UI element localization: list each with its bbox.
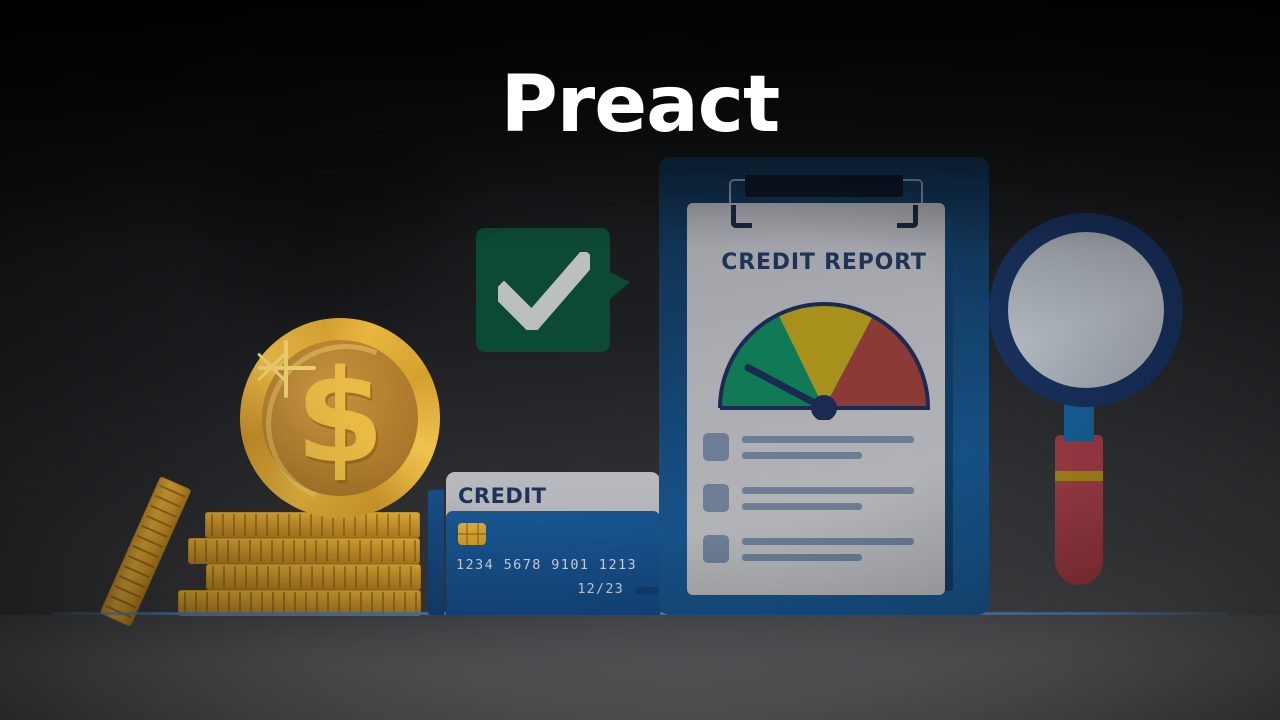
coin-ridge — [344, 566, 346, 588]
ruler-tick — [128, 555, 154, 568]
coin-ridge — [393, 592, 395, 614]
magnifying-glass — [985, 213, 1195, 613]
dollar-sign-icon: $ — [240, 318, 440, 518]
row-line-secondary — [742, 554, 862, 561]
report-row — [703, 535, 914, 563]
ruler-tick — [110, 595, 136, 608]
coin-ridge — [392, 540, 394, 562]
coin-ridge — [338, 592, 340, 614]
ruler-tick — [119, 575, 145, 588]
coin-ridge — [228, 592, 230, 614]
coin-ridge — [337, 540, 339, 562]
check-badge — [476, 228, 610, 352]
paper-bracket-right — [897, 205, 918, 228]
coin-ridge — [194, 540, 196, 562]
coin-ridge — [195, 592, 197, 614]
coin-ridge — [282, 540, 284, 562]
report-row — [703, 433, 914, 461]
magnifier-band — [1055, 471, 1103, 481]
gauge-hub — [811, 395, 837, 420]
ruler-tick — [115, 585, 141, 598]
hero-banner: $ CREDIT 1234 5678 9101 1213 12/23 — [0, 0, 1280, 720]
coin-ridge — [360, 592, 362, 614]
ruler-tick — [124, 565, 150, 578]
coin-ridge — [315, 540, 317, 562]
coin-ridge — [382, 592, 384, 614]
coin-ridge — [283, 592, 285, 614]
coin-stack-row — [206, 564, 421, 590]
row-line-primary — [742, 538, 914, 545]
coin-ridge — [239, 592, 241, 614]
coin-ridge — [349, 592, 351, 614]
magnifier-handle — [1055, 435, 1103, 585]
row-line-primary — [742, 487, 914, 494]
coin-ridge — [261, 592, 263, 614]
card-number: 1234 5678 9101 1213 — [456, 557, 650, 573]
scene-reflection: $ CREDIT 1234 5678 9101 1213 12/23 — [0, 615, 1280, 720]
card-expiry: 12/23 — [456, 581, 624, 597]
coin-ridge — [300, 566, 302, 588]
coin-ridge — [348, 540, 350, 562]
ruler-tick — [150, 505, 176, 518]
row-lines — [742, 433, 914, 459]
coin-ridge — [260, 540, 262, 562]
ruler-tick — [141, 525, 167, 538]
row-line-secondary — [742, 503, 862, 510]
coin-ridge — [216, 540, 218, 562]
coin-ridge — [366, 566, 368, 588]
checkmark-icon — [498, 252, 590, 330]
coin-ridge — [415, 592, 417, 614]
coin-ridge — [250, 592, 252, 614]
gold-coin: $ — [240, 318, 440, 518]
ruler-tick — [133, 545, 159, 558]
coin-ridge — [370, 540, 372, 562]
coin-ridge — [256, 566, 258, 588]
paper-bracket-left — [731, 205, 752, 228]
row-icon-placeholder — [703, 535, 729, 563]
coin-ridge — [404, 592, 406, 614]
coin-ridge — [223, 566, 225, 588]
coin-ridge — [184, 592, 186, 614]
coin-ridge — [205, 540, 207, 562]
coin-ridge — [245, 566, 247, 588]
report-title: CREDIT REPORT — [659, 250, 989, 275]
coin-ridge — [249, 540, 251, 562]
row-icon-placeholder — [703, 484, 729, 512]
coin-ridge — [359, 540, 361, 562]
coin-ridge — [322, 566, 324, 588]
credit-card-label: CREDIT — [458, 484, 547, 508]
coin-ridge — [311, 566, 313, 588]
coin-ridge — [414, 540, 416, 562]
coin-ridge — [403, 540, 405, 562]
coin-ridge — [212, 566, 214, 588]
coin-ridge — [211, 514, 213, 536]
clipboard-clamp — [745, 175, 903, 197]
coin-ridge — [294, 592, 296, 614]
coin-ridge — [305, 592, 307, 614]
magnifier-lens — [989, 213, 1183, 407]
card-front: 1234 5678 9101 1213 12/23 — [446, 511, 660, 615]
coin-ridge — [316, 592, 318, 614]
coin-ridge — [267, 566, 269, 588]
ruler-tick — [155, 495, 181, 508]
coin-ridge — [206, 592, 208, 614]
card-left-edge — [428, 490, 444, 615]
coin-ridge — [222, 514, 224, 536]
coin-ridge — [227, 540, 229, 562]
coin-ridge — [371, 592, 373, 614]
coin-ridge — [238, 540, 240, 562]
row-lines — [742, 484, 914, 510]
coin-ridge — [327, 592, 329, 614]
row-line-primary — [742, 436, 914, 443]
credit-score-gauge — [708, 296, 940, 420]
row-icon-placeholder — [703, 433, 729, 461]
coin-ridge — [233, 514, 235, 536]
credit-report-clipboard: CREDIT REPORT — [659, 157, 989, 615]
coin-ridge — [304, 540, 306, 562]
coin-ridge — [272, 592, 274, 614]
card-chip-icon — [458, 523, 486, 545]
ruler-tick — [146, 515, 172, 528]
coin-ridge — [333, 566, 335, 588]
ruler-tick — [159, 485, 185, 498]
coin-ridge — [217, 592, 219, 614]
coin-ridge — [326, 540, 328, 562]
coin-ridge — [234, 566, 236, 588]
coin-ridge — [289, 566, 291, 588]
coin-stack-row — [188, 538, 420, 564]
coin-ridge — [388, 566, 390, 588]
coin-ridge — [377, 566, 379, 588]
coin-ridge — [293, 540, 295, 562]
row-lines — [742, 535, 914, 561]
credit-card: CREDIT 1234 5678 9101 1213 12/23 — [428, 472, 660, 615]
coin-ridge — [271, 540, 273, 562]
coin-ridge — [355, 566, 357, 588]
coin-ridge — [278, 566, 280, 588]
report-row — [703, 484, 914, 512]
row-line-secondary — [742, 452, 862, 459]
coin-ridge — [381, 540, 383, 562]
ruler-tick — [137, 535, 163, 548]
coin-ridge — [399, 566, 401, 588]
coin-ridge — [410, 566, 412, 588]
page-title: Preact — [0, 66, 1280, 144]
